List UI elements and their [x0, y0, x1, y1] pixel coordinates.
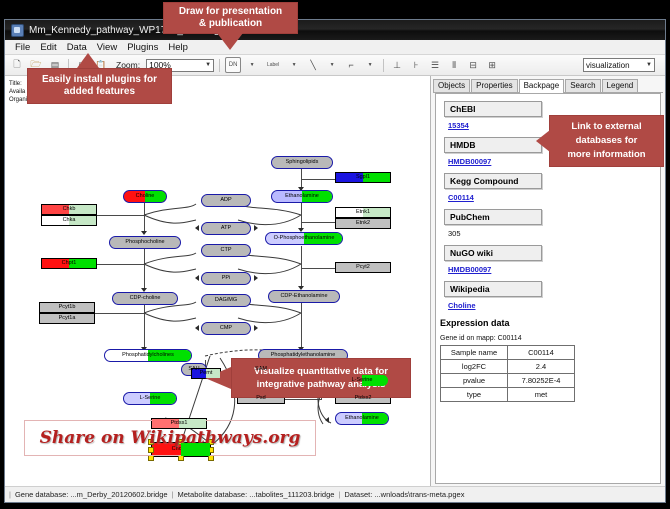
- label-icon[interactable]: Label: [263, 57, 283, 73]
- node-label: CDP-Ethanolamine: [280, 294, 327, 300]
- xref-header: Kegg Compound: [444, 173, 542, 189]
- node-label: CDP-choline: [130, 296, 161, 302]
- cell-label: type: [441, 388, 508, 402]
- node-chkb[interactable]: Chkb: [41, 204, 97, 215]
- menu-edit[interactable]: Edit: [35, 42, 61, 53]
- node-label: Etnk1: [356, 210, 370, 216]
- menu-data[interactable]: Data: [62, 42, 92, 53]
- distribute-vertical-icon[interactable]: ☰: [427, 57, 443, 73]
- menubar: File Edit Data View Plugins Help: [5, 40, 665, 55]
- node-pcyt1b[interactable]: Pcyt1b: [39, 302, 95, 313]
- xref-header: Wikipedia: [444, 281, 542, 297]
- xref-value-pubchem: 305: [448, 229, 660, 238]
- node-label: CMP: [220, 326, 232, 332]
- node-phosphatidylcholines[interactable]: Phosphatidylcholines: [104, 349, 192, 362]
- pathway-info-organism: Organi: [9, 96, 27, 104]
- table-row: Sample name C00114: [441, 346, 575, 360]
- node-cmp[interactable]: CMP: [201, 322, 251, 335]
- node-label: Phosphatidylethanolamine: [271, 353, 336, 359]
- cell-label: Sample name: [441, 346, 508, 360]
- label-dropdown-icon[interactable]: ▼: [286, 57, 302, 73]
- node-label: Pcyt1a: [59, 316, 76, 322]
- new-file-icon[interactable]: 🗋: [9, 57, 25, 73]
- node-cdp-choline[interactable]: CDP-choline: [112, 292, 178, 305]
- align-top-icon[interactable]: ⊥: [389, 57, 405, 73]
- pathway-info: Title: Availa Organi: [9, 80, 27, 104]
- xref-header: ChEBI: [444, 101, 542, 117]
- line-icon[interactable]: ╲: [305, 57, 321, 73]
- chevron-down-icon: ▼: [205, 62, 211, 68]
- table-row: type met: [441, 388, 575, 402]
- node-label: Chkb: [63, 207, 76, 213]
- node-adp[interactable]: ADP: [201, 194, 251, 207]
- window-titlebar: Mm_Kennedy_pathway_WP1771_45176.gpml: [5, 20, 665, 40]
- app-icon: [11, 24, 24, 37]
- xref-header: PubChem: [444, 209, 542, 225]
- chevron-down-icon: ▼: [646, 62, 652, 68]
- callout-links-line1: Link to external: [571, 120, 641, 134]
- statusbar: | Gene database: ...m_Derby_20120602.bri…: [5, 486, 665, 502]
- node-label: L-Serine: [352, 378, 373, 384]
- node-label: Phosphatidylcholines: [122, 353, 174, 359]
- node-pcyt2[interactable]: Pcyt2: [335, 262, 391, 273]
- callout-plugins-pointer: [77, 53, 99, 68]
- node-label: PPi: [222, 276, 231, 282]
- datanode-dropdown-icon[interactable]: ▼: [244, 57, 260, 73]
- expression-data-title: Expression data: [440, 318, 660, 328]
- node-label: DAG/MG: [215, 298, 237, 304]
- gene-id-on-mapp: Gene id on mapp: C00114: [440, 335, 660, 342]
- arrowhead-icon: [325, 417, 329, 423]
- node-ethanolamine-top[interactable]: Ethanolamine: [271, 190, 333, 203]
- callout-draw-pointer: [217, 33, 243, 50]
- node-label: ATP: [221, 226, 231, 232]
- toolbar-separator-3: [383, 59, 384, 72]
- node-ctp[interactable]: CTP: [201, 244, 251, 257]
- node-dagmg[interactable]: DAG/MG: [201, 294, 251, 307]
- callout-draw-line2: & publication: [199, 18, 262, 30]
- node-etnk2[interactable]: Etnk2: [335, 218, 391, 229]
- same-width-icon[interactable]: ⊟: [465, 57, 481, 73]
- node-label: O-Phosphoethanolamine: [274, 236, 335, 242]
- node-chka[interactable]: Chka: [41, 215, 97, 226]
- xref-link-nugo[interactable]: HMDB00097: [448, 265, 660, 274]
- table-row: pvalue 7.80252E-4: [441, 374, 575, 388]
- xref-header: NuGO wiki: [444, 245, 542, 261]
- status-metabolite-database: Metabolite database: ...tabolites_111203…: [174, 490, 339, 499]
- tab-search[interactable]: Search: [565, 79, 600, 92]
- callout-links-pointer: [536, 130, 550, 152]
- callout-plugins: Easily install plugins for added feature…: [27, 68, 172, 104]
- node-label: CTP: [221, 248, 232, 254]
- menu-file[interactable]: File: [10, 42, 35, 53]
- status-gene-database: Gene database: ...m_Derby_20120602.bridg…: [11, 490, 172, 499]
- table-row: log2FC 2.4: [441, 360, 575, 374]
- callout-draw: Draw for presentation & publication: [163, 2, 298, 34]
- node-label: Phosphocholine: [125, 240, 164, 246]
- menu-view[interactable]: View: [92, 42, 122, 53]
- expression-table: Sample name C00114 log2FC 2.4 pvalue 7.8…: [440, 345, 575, 402]
- connector-dropdown-icon[interactable]: ▼: [362, 57, 378, 73]
- xref-nugo: NuGO wiki HMDB00097: [444, 245, 660, 274]
- callout-plugins-line1: Easily install plugins for: [42, 74, 157, 86]
- arrowhead-icon: [195, 225, 199, 231]
- tab-properties[interactable]: Properties: [471, 79, 517, 92]
- align-left-icon[interactable]: ⊦: [408, 57, 424, 73]
- callout-plugins-line2: added features: [64, 86, 135, 98]
- cell-value: C00114: [508, 346, 575, 360]
- screen-root: Mm_Kennedy_pathway_WP1771_45176.gpml Fil…: [0, 0, 670, 509]
- node-label: Etnk2: [356, 221, 370, 227]
- node-label: Ethanolamine: [345, 416, 379, 422]
- line-dropdown-icon[interactable]: ▼: [324, 57, 340, 73]
- node-l-serine-left[interactable]: L-Serine: [123, 392, 177, 405]
- same-height-icon[interactable]: ⊞: [484, 57, 500, 73]
- menu-plugins[interactable]: Plugins: [122, 42, 163, 53]
- node-label: SAH: [188, 367, 199, 373]
- visualization-combo[interactable]: visualization ▼: [583, 58, 655, 72]
- xref-kegg: Kegg Compound C00114: [444, 173, 660, 202]
- tab-objects[interactable]: Objects: [433, 79, 470, 92]
- node-label: Pemt: [200, 371, 213, 377]
- node-label: SAM: [255, 367, 267, 373]
- visualization-value: visualization: [586, 61, 630, 70]
- node-label: Psd: [256, 396, 265, 402]
- cell-value: 2.4: [508, 360, 575, 374]
- callout-links: Link to external databases for more info…: [549, 115, 664, 167]
- node-label: ADP: [220, 198, 231, 204]
- share-banner-text: Share on Wikipathways.org: [40, 428, 301, 448]
- menu-help[interactable]: Help: [163, 42, 193, 53]
- cell-label: log2FC: [441, 360, 508, 374]
- node-label: Pcyt2: [356, 265, 370, 271]
- side-panel-tabs: Objects Properties Backpage Search Legen…: [433, 78, 663, 93]
- node-label: Chka: [63, 218, 76, 224]
- distribute-horizontal-icon[interactable]: ⦀: [446, 57, 462, 73]
- cell-label: pvalue: [441, 374, 508, 388]
- arrowhead-icon: [254, 225, 258, 231]
- node-label: Pcyt1b: [59, 305, 76, 311]
- node-pcyt1a[interactable]: Pcyt1a: [39, 313, 95, 324]
- node-ppi[interactable]: PPi: [201, 272, 251, 285]
- arrowhead-icon: [195, 325, 199, 331]
- status-dataset: Dataset: ...wnloads\trans-meta.pgex: [340, 490, 468, 499]
- node-label: Sphingolipids: [286, 160, 319, 166]
- connector-icon[interactable]: ⌐: [343, 57, 359, 73]
- tab-backpage[interactable]: Backpage: [519, 79, 565, 93]
- arrowhead-icon: [195, 275, 199, 281]
- arrowhead-icon: [254, 275, 258, 281]
- xref-pubchem: PubChem 305: [444, 209, 660, 238]
- node-label: Sgpl1: [356, 175, 370, 181]
- node-atp[interactable]: ATP: [201, 222, 251, 235]
- datanode-icon[interactable]: DN: [225, 57, 241, 73]
- node-etnk1[interactable]: Etnk1: [335, 207, 391, 218]
- xref-link-wikipedia[interactable]: Choline: [448, 301, 660, 310]
- node-label: Choline: [136, 194, 155, 200]
- node-phosphocholine[interactable]: Phosphocholine: [109, 236, 181, 249]
- node-label: Chpt1: [62, 261, 77, 267]
- node-ethanolamine-bottom[interactable]: Ethanolamine: [335, 412, 389, 425]
- node-choline-top[interactable]: Choline: [123, 190, 167, 203]
- node-label: Ethanolamine: [285, 194, 319, 200]
- xref-wikipedia: Wikipedia Choline: [444, 281, 660, 310]
- node-label: Ptdss1: [171, 421, 188, 427]
- cell-value: met: [508, 388, 575, 402]
- pathway-info-title: Title:: [9, 80, 27, 88]
- node-label: L-Serine: [140, 396, 161, 402]
- callout-draw-line1: Draw for presentation: [179, 6, 282, 18]
- cell-value: 7.80252E-4: [508, 374, 575, 388]
- node-sgpl1[interactable]: Sgpl1: [335, 172, 391, 183]
- toolbar-separator-2: [219, 59, 220, 72]
- node-sphingolipids[interactable]: Sphingolipids: [271, 156, 333, 169]
- arrowhead-icon: [254, 325, 258, 331]
- xref-link-kegg[interactable]: C00114: [448, 193, 660, 202]
- node-o-phosphoethanolamine[interactable]: O-Phosphoethanolamine: [265, 232, 343, 245]
- pathway-info-availability: Availa: [9, 88, 27, 96]
- callout-links-line3: more information: [567, 148, 645, 162]
- expression-green-half: [181, 443, 210, 456]
- tab-legend[interactable]: Legend: [602, 79, 639, 92]
- node-cdp-ethanolamine[interactable]: CDP-Ethanolamine: [268, 290, 340, 303]
- node-ptdss1[interactable]: Ptdss1: [151, 418, 207, 429]
- xref-header: HMDB: [444, 137, 542, 153]
- node-label: Ptdss2: [355, 396, 372, 402]
- callout-links-line2: databases for: [576, 134, 638, 148]
- node-chpt1[interactable]: Chpt1: [41, 258, 97, 269]
